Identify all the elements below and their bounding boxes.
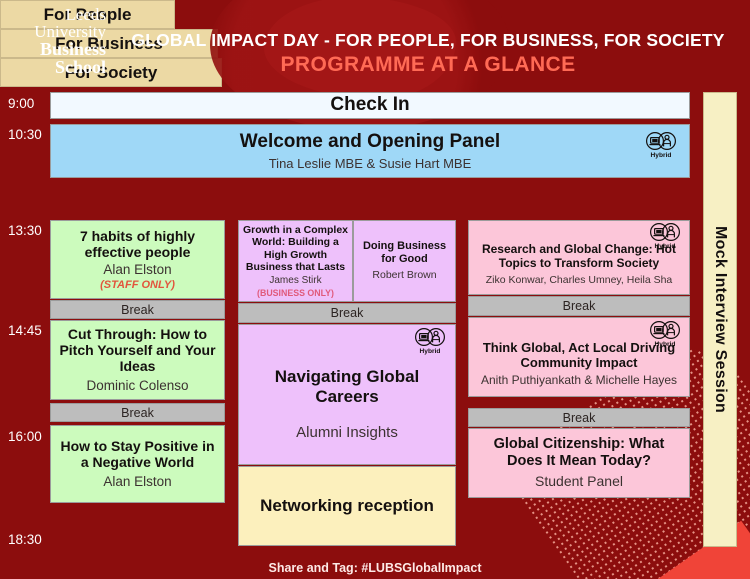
session-cut-through-how-to-pitch-yourself-and-your-ideas[interactable]: Cut Through: How to Pitch Yourself and Y… bbox=[50, 320, 225, 400]
share-and-tag-footer: Share and Tag: #LUBSGlobalImpact bbox=[0, 561, 750, 575]
page-title: GLOBAL IMPACT DAY - FOR PEOPLE, FOR BUSI… bbox=[108, 30, 748, 51]
logo-line-4: School bbox=[6, 58, 106, 76]
session-title: How to Stay Positive in a Negative World bbox=[56, 438, 219, 470]
programme-poster: Leeds University Business School GLOBAL … bbox=[0, 0, 750, 579]
session-speaker: James Stirk bbox=[269, 275, 321, 287]
session-title: Global Citizenship: What Does It Mean To… bbox=[474, 436, 684, 470]
break-society-1: Break bbox=[468, 296, 690, 316]
hybrid-icon: Hybrid bbox=[648, 222, 682, 250]
hybrid-icon: Hybrid bbox=[413, 327, 447, 355]
time-label-0900: 9:00 bbox=[8, 96, 34, 111]
session-welcome-and-opening-panel[interactable]: Welcome and Opening Panel Tina Leslie MB… bbox=[50, 124, 690, 178]
mock-interview-session-panel[interactable]: Mock Interview Session bbox=[703, 92, 737, 547]
session-note: (STAFF ONLY) bbox=[100, 279, 175, 291]
session-speaker: Dominic Colenso bbox=[86, 378, 188, 394]
session-speaker: Alan Elston bbox=[103, 262, 171, 278]
session-networking-reception[interactable]: Networking reception bbox=[238, 466, 456, 546]
session-speaker: Alumni Insights bbox=[296, 424, 398, 442]
svg-text:Hybrid: Hybrid bbox=[651, 152, 672, 159]
session-doing-business-for-good[interactable]: Doing Business for Good Robert Brown bbox=[353, 220, 456, 302]
leeds-university-business-school-logo: Leeds University Business School bbox=[6, 6, 106, 76]
session-speaker: Robert Brown bbox=[372, 269, 436, 282]
session-speakers: Tina Leslie MBE & Susie Hart MBE bbox=[269, 156, 472, 172]
session-speaker: Anith Puthiyankath & Michelle Hayes bbox=[481, 373, 677, 387]
session-title: Check In bbox=[330, 94, 409, 116]
session-global-citizenship[interactable]: Global Citizenship: What Does It Mean To… bbox=[468, 428, 690, 498]
session-check-in[interactable]: Check In bbox=[50, 92, 690, 119]
break-people-1: Break bbox=[50, 300, 225, 319]
logo-line-1: Leeds bbox=[6, 6, 106, 23]
session-speaker: Alan Elston bbox=[103, 474, 171, 490]
session-how-to-stay-positive-in-a-negative-world[interactable]: How to Stay Positive in a Negative World… bbox=[50, 425, 225, 503]
session-speaker: Student Panel bbox=[535, 473, 623, 490]
session-title: 7 habits of highly effective people bbox=[56, 228, 219, 260]
session-speaker: Ziko Konwar, Charles Umney, Heila Sha bbox=[486, 274, 673, 287]
session-7-habits-of-highly-effective-people[interactable]: 7 habits of highly effective people Alan… bbox=[50, 220, 225, 299]
page-subtitle: PROGRAMME AT A GLANCE bbox=[108, 53, 748, 77]
logo-line-2: University bbox=[6, 23, 106, 40]
time-label-1445: 14:45 bbox=[8, 323, 42, 338]
mock-interview-session-label: Mock Interview Session bbox=[711, 226, 729, 413]
poster-header: Leeds University Business School GLOBAL … bbox=[0, 0, 750, 85]
svg-text:Hybrid: Hybrid bbox=[420, 348, 441, 355]
time-label-1830: 18:30 bbox=[8, 532, 42, 547]
svg-text:Hybrid: Hybrid bbox=[655, 243, 676, 250]
time-label-1030: 10:30 bbox=[8, 127, 42, 142]
session-title: Growth in a Complex World: Building a Hi… bbox=[243, 224, 348, 273]
session-growth-in-a-complex-world[interactable]: Growth in a Complex World: Building a Hi… bbox=[238, 220, 353, 302]
session-title: Networking reception bbox=[260, 496, 434, 516]
session-title: Cut Through: How to Pitch Yourself and Y… bbox=[56, 326, 219, 375]
hybrid-icon: Hybrid bbox=[648, 320, 682, 348]
svg-text:Hybrid: Hybrid bbox=[655, 341, 676, 348]
logo-line-3: Business bbox=[6, 40, 106, 58]
session-title: Welcome and Opening Panel bbox=[240, 131, 500, 153]
time-label-1330: 13:30 bbox=[8, 223, 42, 238]
session-title: Navigating Global Careers bbox=[244, 367, 450, 406]
title-block: GLOBAL IMPACT DAY - FOR PEOPLE, FOR BUSI… bbox=[108, 30, 748, 77]
break-business-1: Break bbox=[238, 303, 456, 323]
time-label-1600: 16:00 bbox=[8, 429, 42, 444]
session-title: Doing Business for Good bbox=[358, 240, 451, 266]
hybrid-icon: Hybrid bbox=[644, 131, 678, 159]
session-note: (BUSINESS ONLY) bbox=[257, 288, 334, 298]
break-people-2: Break bbox=[50, 403, 225, 422]
break-society-2: Break bbox=[468, 408, 690, 427]
